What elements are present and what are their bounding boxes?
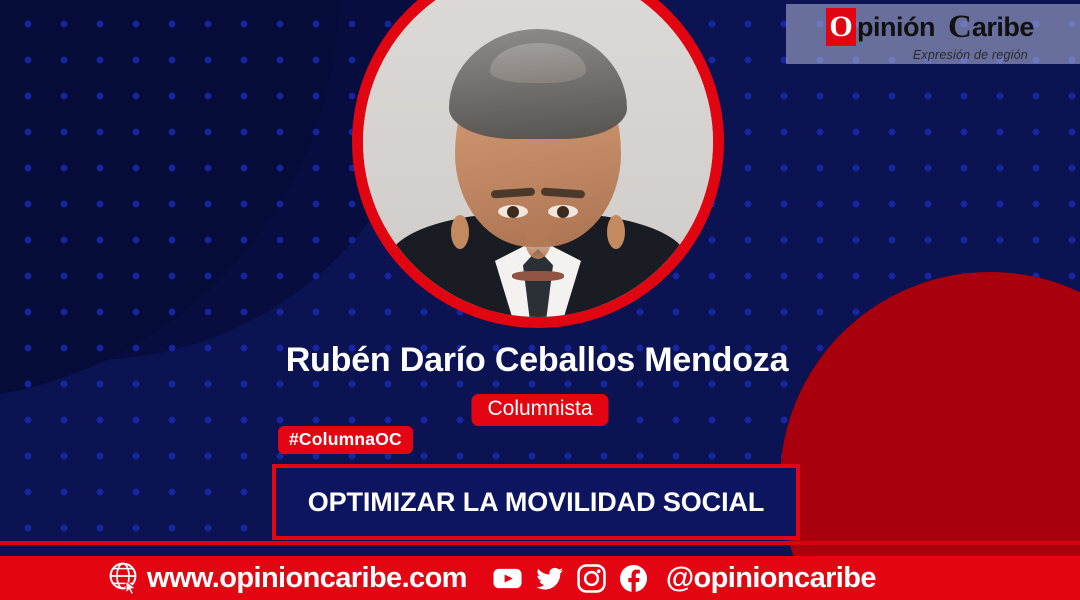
footer-bar: www.opinioncaribe.com — [0, 556, 1080, 600]
page-title: OPTIMIZAR LA MOVILIDAD SOCIAL — [300, 487, 773, 518]
logo-word-opinion: pinión — [857, 14, 935, 41]
portrait-eye-left — [498, 205, 528, 218]
social-links: @opinioncaribe — [493, 562, 876, 595]
social-handle: @opinioncaribe — [666, 562, 876, 595]
role-badge: Columnista — [471, 394, 608, 426]
facebook-icon[interactable] — [619, 564, 648, 593]
logo-tagline: Expresión de región — [913, 48, 1028, 62]
instagram-icon[interactable] — [577, 564, 606, 593]
avatar — [363, 0, 713, 317]
youtube-icon[interactable] — [493, 564, 522, 593]
portrait-photo — [363, 0, 713, 317]
social-media-card: O pinión C aribe Expresión de región — [0, 0, 1080, 600]
logo-o-letter: O — [829, 12, 852, 42]
article-title-box: OPTIMIZAR LA MOVILIDAD SOCIAL — [272, 464, 800, 540]
portrait-brow-right — [541, 187, 585, 198]
website-url: www.opinioncaribe.com — [147, 562, 467, 595]
logo-word-caribe: aribe — [972, 14, 1034, 41]
portrait-nose — [525, 221, 551, 259]
columnist-name: Rubén Darío Ceballos Mendoza — [0, 341, 1080, 380]
portrait-hair — [449, 29, 627, 139]
portrait-eye-right — [548, 205, 578, 218]
logo-c-letter: C — [948, 11, 972, 44]
portrait-mouth — [512, 271, 564, 281]
website-link[interactable]: www.opinioncaribe.com — [108, 561, 467, 595]
globe-cursor-icon — [108, 561, 142, 595]
hashtag-badge[interactable]: #ColumnaOC — [278, 426, 413, 454]
twitter-icon[interactable] — [535, 564, 564, 593]
portrait-ear-right — [607, 215, 625, 249]
portrait-ear-left — [451, 215, 469, 249]
logo-o-box: O — [826, 8, 856, 46]
brand-logo[interactable]: O pinión C aribe Expresión de región — [826, 8, 1034, 60]
footer-accent-line — [0, 541, 1080, 545]
portrait-ring — [352, 0, 724, 328]
portrait-brow-left — [491, 187, 535, 198]
